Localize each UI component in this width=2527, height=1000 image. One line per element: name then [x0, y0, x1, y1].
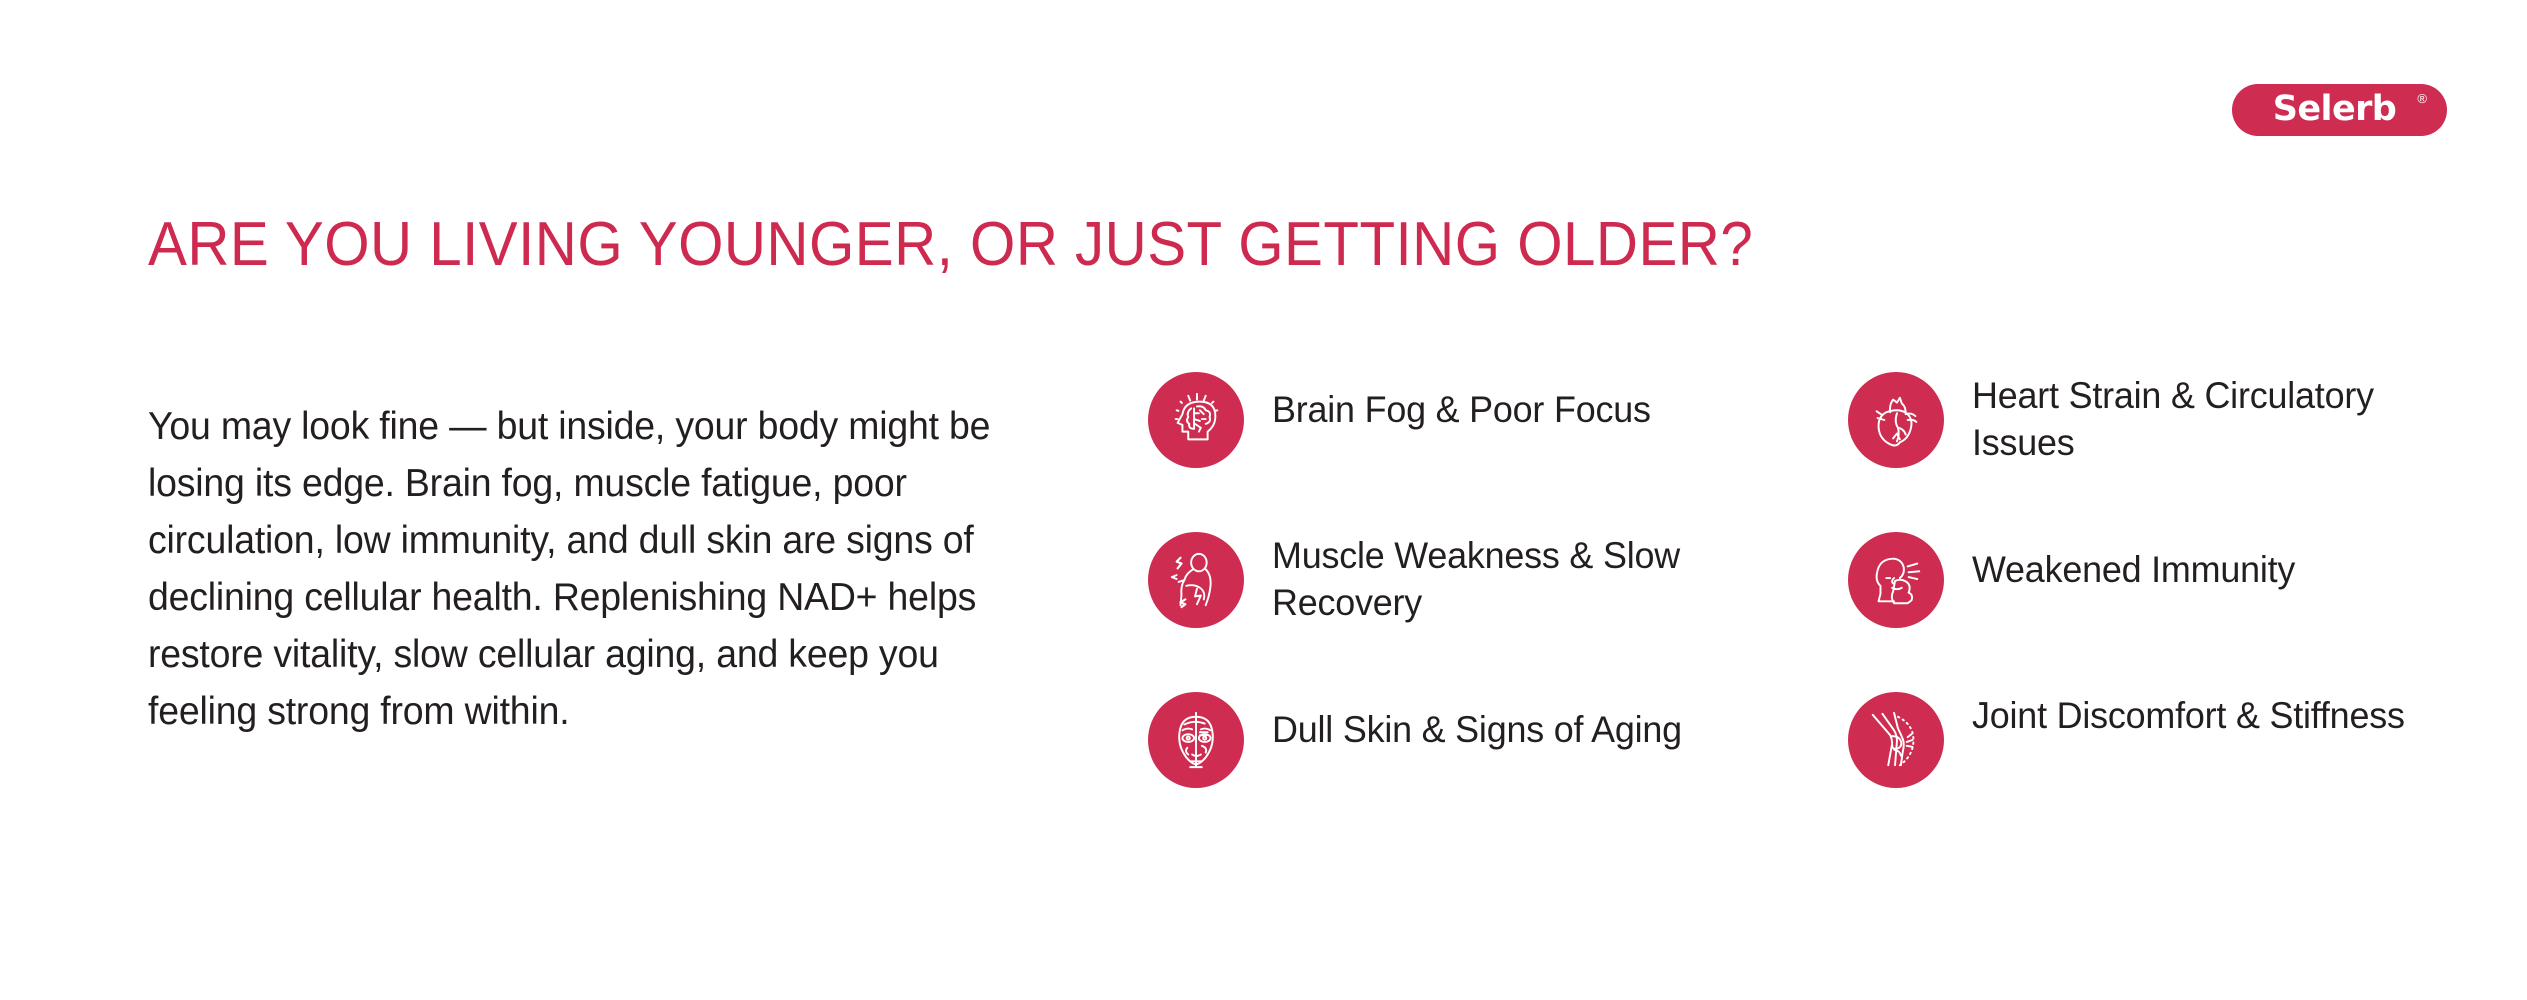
list-item-label: Brain Fog & Poor Focus — [1272, 372, 1651, 433]
list-item: Heart Strain & Circulatory Issues — [1848, 372, 2448, 468]
knee-joint-icon — [1848, 692, 1944, 788]
list-item-label: Weakened Immunity — [1972, 532, 2295, 593]
list-item-label: Muscle Weakness & Slow Recovery — [1272, 532, 1776, 627]
muscle-pain-icon — [1148, 532, 1244, 628]
list-item: Joint Discomfort & Stiffness — [1848, 692, 2448, 788]
brand-logo[interactable]: Selerb ® — [2232, 84, 2447, 136]
logo-pill-background: Selerb — [2232, 84, 2447, 136]
heart-icon — [1848, 372, 1944, 468]
page-title: ARE YOU LIVING YOUNGER, OR JUST GETTING … — [148, 212, 1753, 277]
list-item: Dull Skin & Signs of Aging — [1148, 692, 1848, 788]
list-item: Muscle Weakness & Slow Recovery — [1148, 532, 1848, 628]
sneeze-immunity-icon — [1848, 532, 1944, 628]
brain-head-icon — [1148, 372, 1244, 468]
list-item: Weakened Immunity — [1848, 532, 2448, 628]
list-item: Brain Fog & Poor Focus — [1148, 372, 1848, 468]
body-paragraph: You may look fine — but inside, your bod… — [148, 399, 1050, 741]
logo-wordmark: Selerb — [2273, 92, 2396, 127]
aging-face-icon — [1148, 692, 1244, 788]
list-item-label: Heart Strain & Circulatory Issues — [1972, 372, 2434, 467]
registered-trademark-icon: ® — [2417, 92, 2427, 105]
symptom-list: Brain Fog & Poor Focus Heart Strain & Ci… — [1148, 372, 2448, 852]
list-item-label: Dull Skin & Signs of Aging — [1272, 692, 1682, 753]
promo-banner: Selerb ® ARE YOU LIVING YOUNGER, OR JUST… — [0, 0, 2527, 1000]
list-item-label: Joint Discomfort & Stiffness — [1972, 692, 2405, 739]
